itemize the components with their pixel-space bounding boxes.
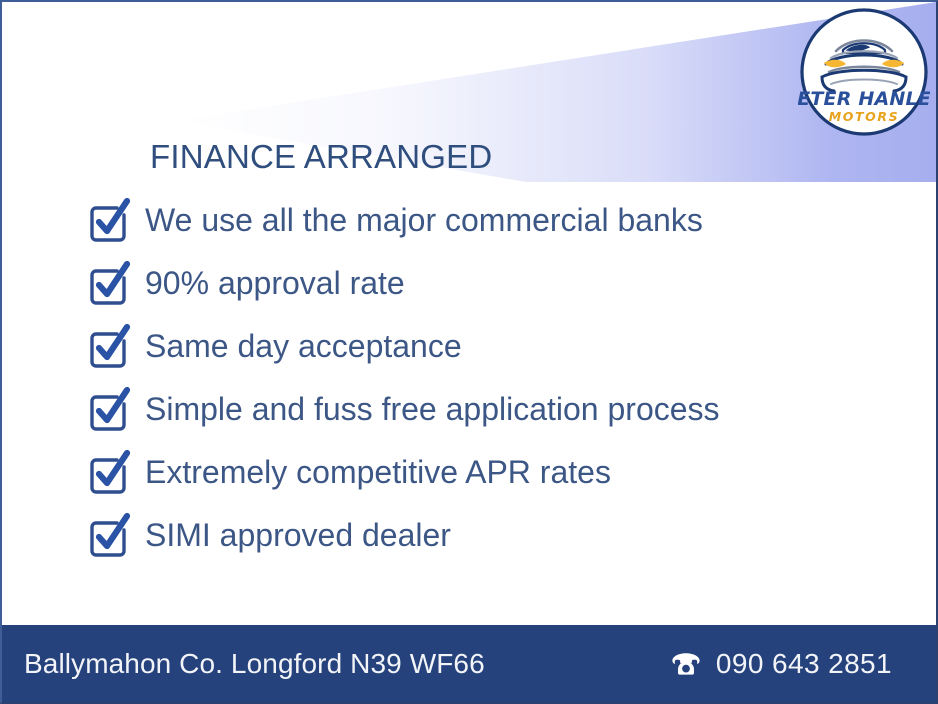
logo-wordmark-secondary: MOTORS: [829, 109, 899, 124]
list-item-label: SIMI approved dealer: [145, 519, 451, 551]
list-item-label: 90% approval rate: [145, 267, 405, 299]
logo-wordmark-primary: PETER HANLEY: [798, 88, 930, 110]
checkbox-checked-icon: [84, 258, 134, 308]
checkbox-checked-icon: [84, 195, 134, 245]
page-title: FINANCE ARRANGED: [150, 138, 492, 176]
list-item-label: Same day acceptance: [145, 330, 462, 362]
footer-phone-number: 090 643 2851: [716, 648, 892, 680]
list-item: Simple and fuss free application process: [84, 377, 884, 440]
footer-bar: Ballymahon Co. Longford N39 WF66 090 643…: [2, 625, 936, 702]
list-item: Extremely competitive APR rates: [84, 440, 884, 503]
telephone-icon: [669, 651, 703, 677]
finance-arranged-poster: PETER HANLEY MOTORS FINANCE ARRANGED We …: [0, 0, 938, 704]
peter-hanley-motors-logo: PETER HANLEY MOTORS: [798, 6, 930, 138]
checkbox-checked-icon: [84, 510, 134, 560]
list-item: Same day acceptance: [84, 314, 884, 377]
list-item: We use all the major commercial banks: [84, 188, 884, 251]
list-item: SIMI approved dealer: [84, 503, 884, 566]
feature-list: We use all the major commercial banks 90…: [84, 188, 884, 566]
checkbox-checked-icon: [84, 321, 134, 371]
list-item-label: Extremely competitive APR rates: [145, 456, 611, 488]
checkbox-checked-icon: [84, 447, 134, 497]
footer-contact: 090 643 2851: [669, 648, 892, 680]
list-item-label: We use all the major commercial banks: [145, 204, 703, 236]
list-item: 90% approval rate: [84, 251, 884, 314]
footer-address: Ballymahon Co. Longford N39 WF66: [24, 648, 485, 680]
checkbox-checked-icon: [84, 384, 134, 434]
list-item-label: Simple and fuss free application process: [145, 393, 720, 425]
